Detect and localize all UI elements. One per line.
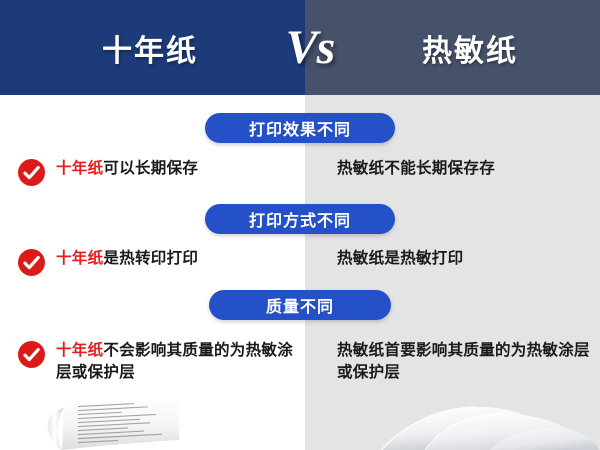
section-pill-print-effect[interactable]: 打印效果不同	[205, 113, 395, 143]
header-left-title: 十年纸	[55, 0, 245, 95]
check-circle-icon	[18, 249, 45, 276]
row-3-left-text: 十年纸不会影响其质量的为热敏涂层或保护层	[56, 340, 305, 384]
row-1-left-rest: 可以长期保存	[103, 160, 198, 177]
row-1-left-highlight: 十年纸	[56, 160, 103, 177]
row-1-left-cell: 十年纸可以长期保存	[18, 158, 305, 180]
row-2-left-cell: 十年纸是热转印打印	[18, 248, 305, 270]
row-2-left-highlight: 十年纸	[56, 250, 103, 267]
row-2-left-text: 十年纸是热转印打印	[56, 248, 305, 270]
row-2-left-rest: 是热转印打印	[103, 250, 198, 267]
row-1-left-text: 十年纸可以长期保存	[56, 158, 305, 180]
row-2-right-text: 热敏纸是热敏打印	[337, 248, 592, 270]
header-right-title: 热敏纸	[375, 0, 565, 95]
row-3-left-highlight: 十年纸	[56, 342, 103, 359]
check-circle-icon	[18, 159, 45, 186]
row-1-right-text: 热敏纸不能长期保存存	[337, 158, 592, 180]
row-2-right-cell: 热敏纸是热敏打印	[337, 248, 592, 270]
section-pill-quality[interactable]: 质量不同	[209, 290, 391, 320]
row-1-right-cell: 热敏纸不能长期保存存	[337, 158, 592, 180]
check-circle-icon	[18, 341, 45, 368]
header-banner: 十年纸 Vs 热敏纸	[0, 0, 600, 95]
vs-label: Vs	[255, 0, 365, 95]
row-3-right-cell: 热敏纸首要影响其质量的为热敏涂层或保护层	[337, 340, 592, 384]
section-pill-print-method[interactable]: 打印方式不同	[205, 204, 395, 234]
vs-infographic: 十年纸 Vs 热敏纸 打印效果不同 十年纸可以长期保存 热敏纸不能长期保存存 打…	[0, 0, 600, 450]
row-3-right-text: 热敏纸首要影响其质量的为热敏涂层或保护层	[337, 340, 592, 384]
left-column-panel	[0, 95, 305, 450]
row-3-left-cell: 十年纸不会影响其质量的为热敏涂层或保护层	[18, 340, 305, 384]
right-column-panel	[305, 95, 600, 450]
